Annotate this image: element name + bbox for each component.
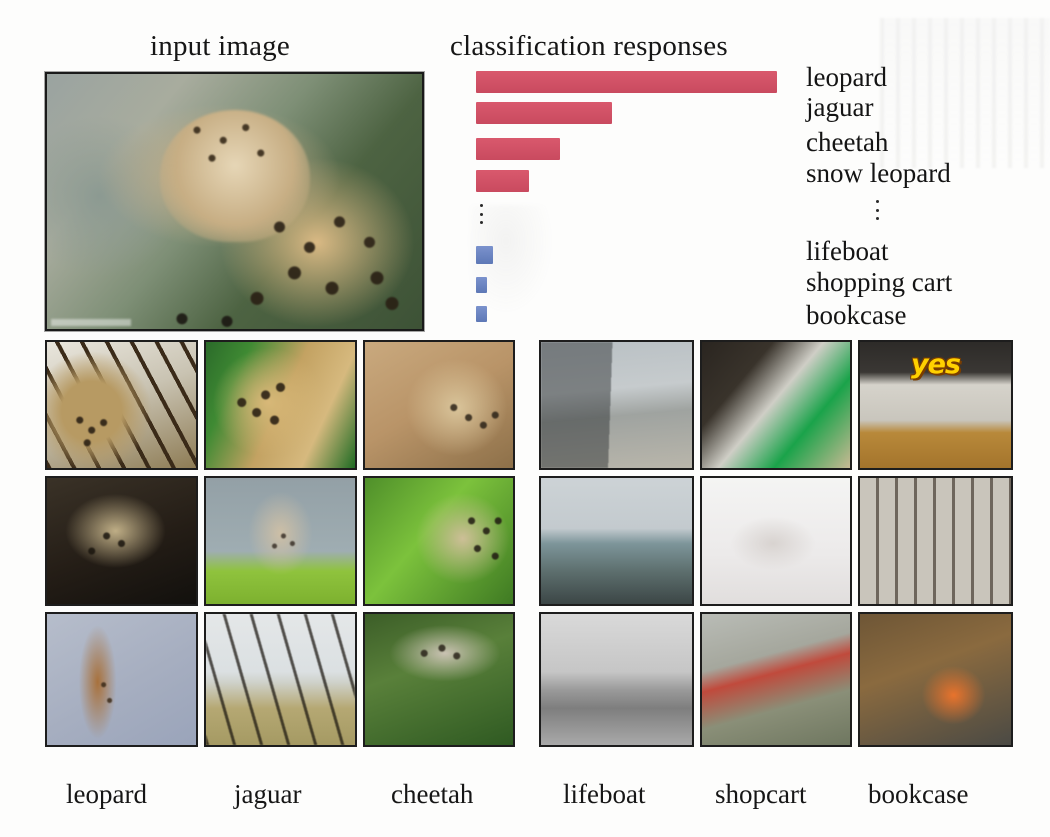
column-label-leopard: leopard xyxy=(66,779,147,810)
thumbnail-left-6 xyxy=(363,476,515,606)
bar-jaguar xyxy=(476,102,612,124)
thumbnail-right-3: yes xyxy=(858,340,1013,470)
thumbnail-texture xyxy=(206,342,355,468)
thumbnail-texture xyxy=(47,478,196,604)
thumbnail-right-1 xyxy=(539,340,694,470)
classification-label-ellipsis xyxy=(874,200,880,220)
page-title-classification-responses: classification responses xyxy=(450,30,728,63)
input-image-photo xyxy=(45,72,424,331)
classification-response-bar-chart xyxy=(476,66,796,316)
thumbnail-texture xyxy=(365,342,513,468)
yes-overlay-text: yes xyxy=(911,349,960,380)
thumbnail-grid-objects: yes xyxy=(539,340,1015,747)
bar-leopard xyxy=(476,71,777,93)
figure-root: input image classification responses leo… xyxy=(0,0,1050,837)
classification-label-leopard: leopard xyxy=(806,62,887,93)
bar-shopping-cart xyxy=(476,277,487,293)
column-label-jaguar: jaguar xyxy=(234,779,301,810)
thumbnail-texture xyxy=(365,614,513,745)
thumbnail-right-7 xyxy=(539,612,694,747)
classification-label-lifeboat: lifeboat xyxy=(806,236,888,267)
thumbnail-texture xyxy=(47,342,196,468)
classification-label-shopping-cart: shopping cart xyxy=(806,267,952,298)
column-label-lifeboat: lifeboat xyxy=(563,779,645,810)
bar-snow-leopard xyxy=(476,170,529,192)
bar-lifeboat xyxy=(476,246,493,264)
thumbnail-left-1 xyxy=(45,340,198,470)
page-title-input-image: input image xyxy=(150,30,290,63)
bar-cheetah xyxy=(476,138,560,160)
classification-label-cheetah: cheetah xyxy=(806,127,888,158)
column-label-cheetah: cheetah xyxy=(391,779,473,810)
bar-bookcase xyxy=(476,306,487,322)
thumbnail-texture xyxy=(47,614,196,745)
thumbnail-texture xyxy=(541,342,692,468)
thumbnail-left-3 xyxy=(363,340,515,470)
chart-ellipsis xyxy=(478,204,484,224)
column-label-shopcart: shopcart xyxy=(715,779,806,810)
thumbnail-right-4 xyxy=(539,476,694,606)
thumbnail-right-9 xyxy=(858,612,1013,747)
thumbnail-left-9 xyxy=(363,612,515,747)
classification-label-snow-leopard: snow leopard xyxy=(806,158,951,189)
thumbnail-texture xyxy=(365,478,513,604)
thumbnail-left-7 xyxy=(45,612,198,747)
thumbnail-grid-animals xyxy=(45,340,523,747)
thumbnail-right-6 xyxy=(858,476,1013,606)
thumbnail-left-5 xyxy=(204,476,357,606)
thumbnail-right-8 xyxy=(700,612,852,747)
thumbnail-texture xyxy=(206,614,355,745)
thumbnail-left-2 xyxy=(204,340,357,470)
classification-label-jaguar: jaguar xyxy=(806,92,873,123)
thumbnail-left-8 xyxy=(204,612,357,747)
thumbnail-right-5 xyxy=(700,476,852,606)
page-watermark xyxy=(880,18,1050,168)
column-label-bookcase: bookcase xyxy=(868,779,968,810)
classification-label-bookcase: bookcase xyxy=(806,300,906,331)
thumbnail-left-4 xyxy=(45,476,198,606)
leopard-spots-texture xyxy=(47,74,422,329)
thumbnail-right-2 xyxy=(700,340,852,470)
photo-credit-watermark xyxy=(51,319,131,326)
thumbnail-texture xyxy=(206,478,355,604)
